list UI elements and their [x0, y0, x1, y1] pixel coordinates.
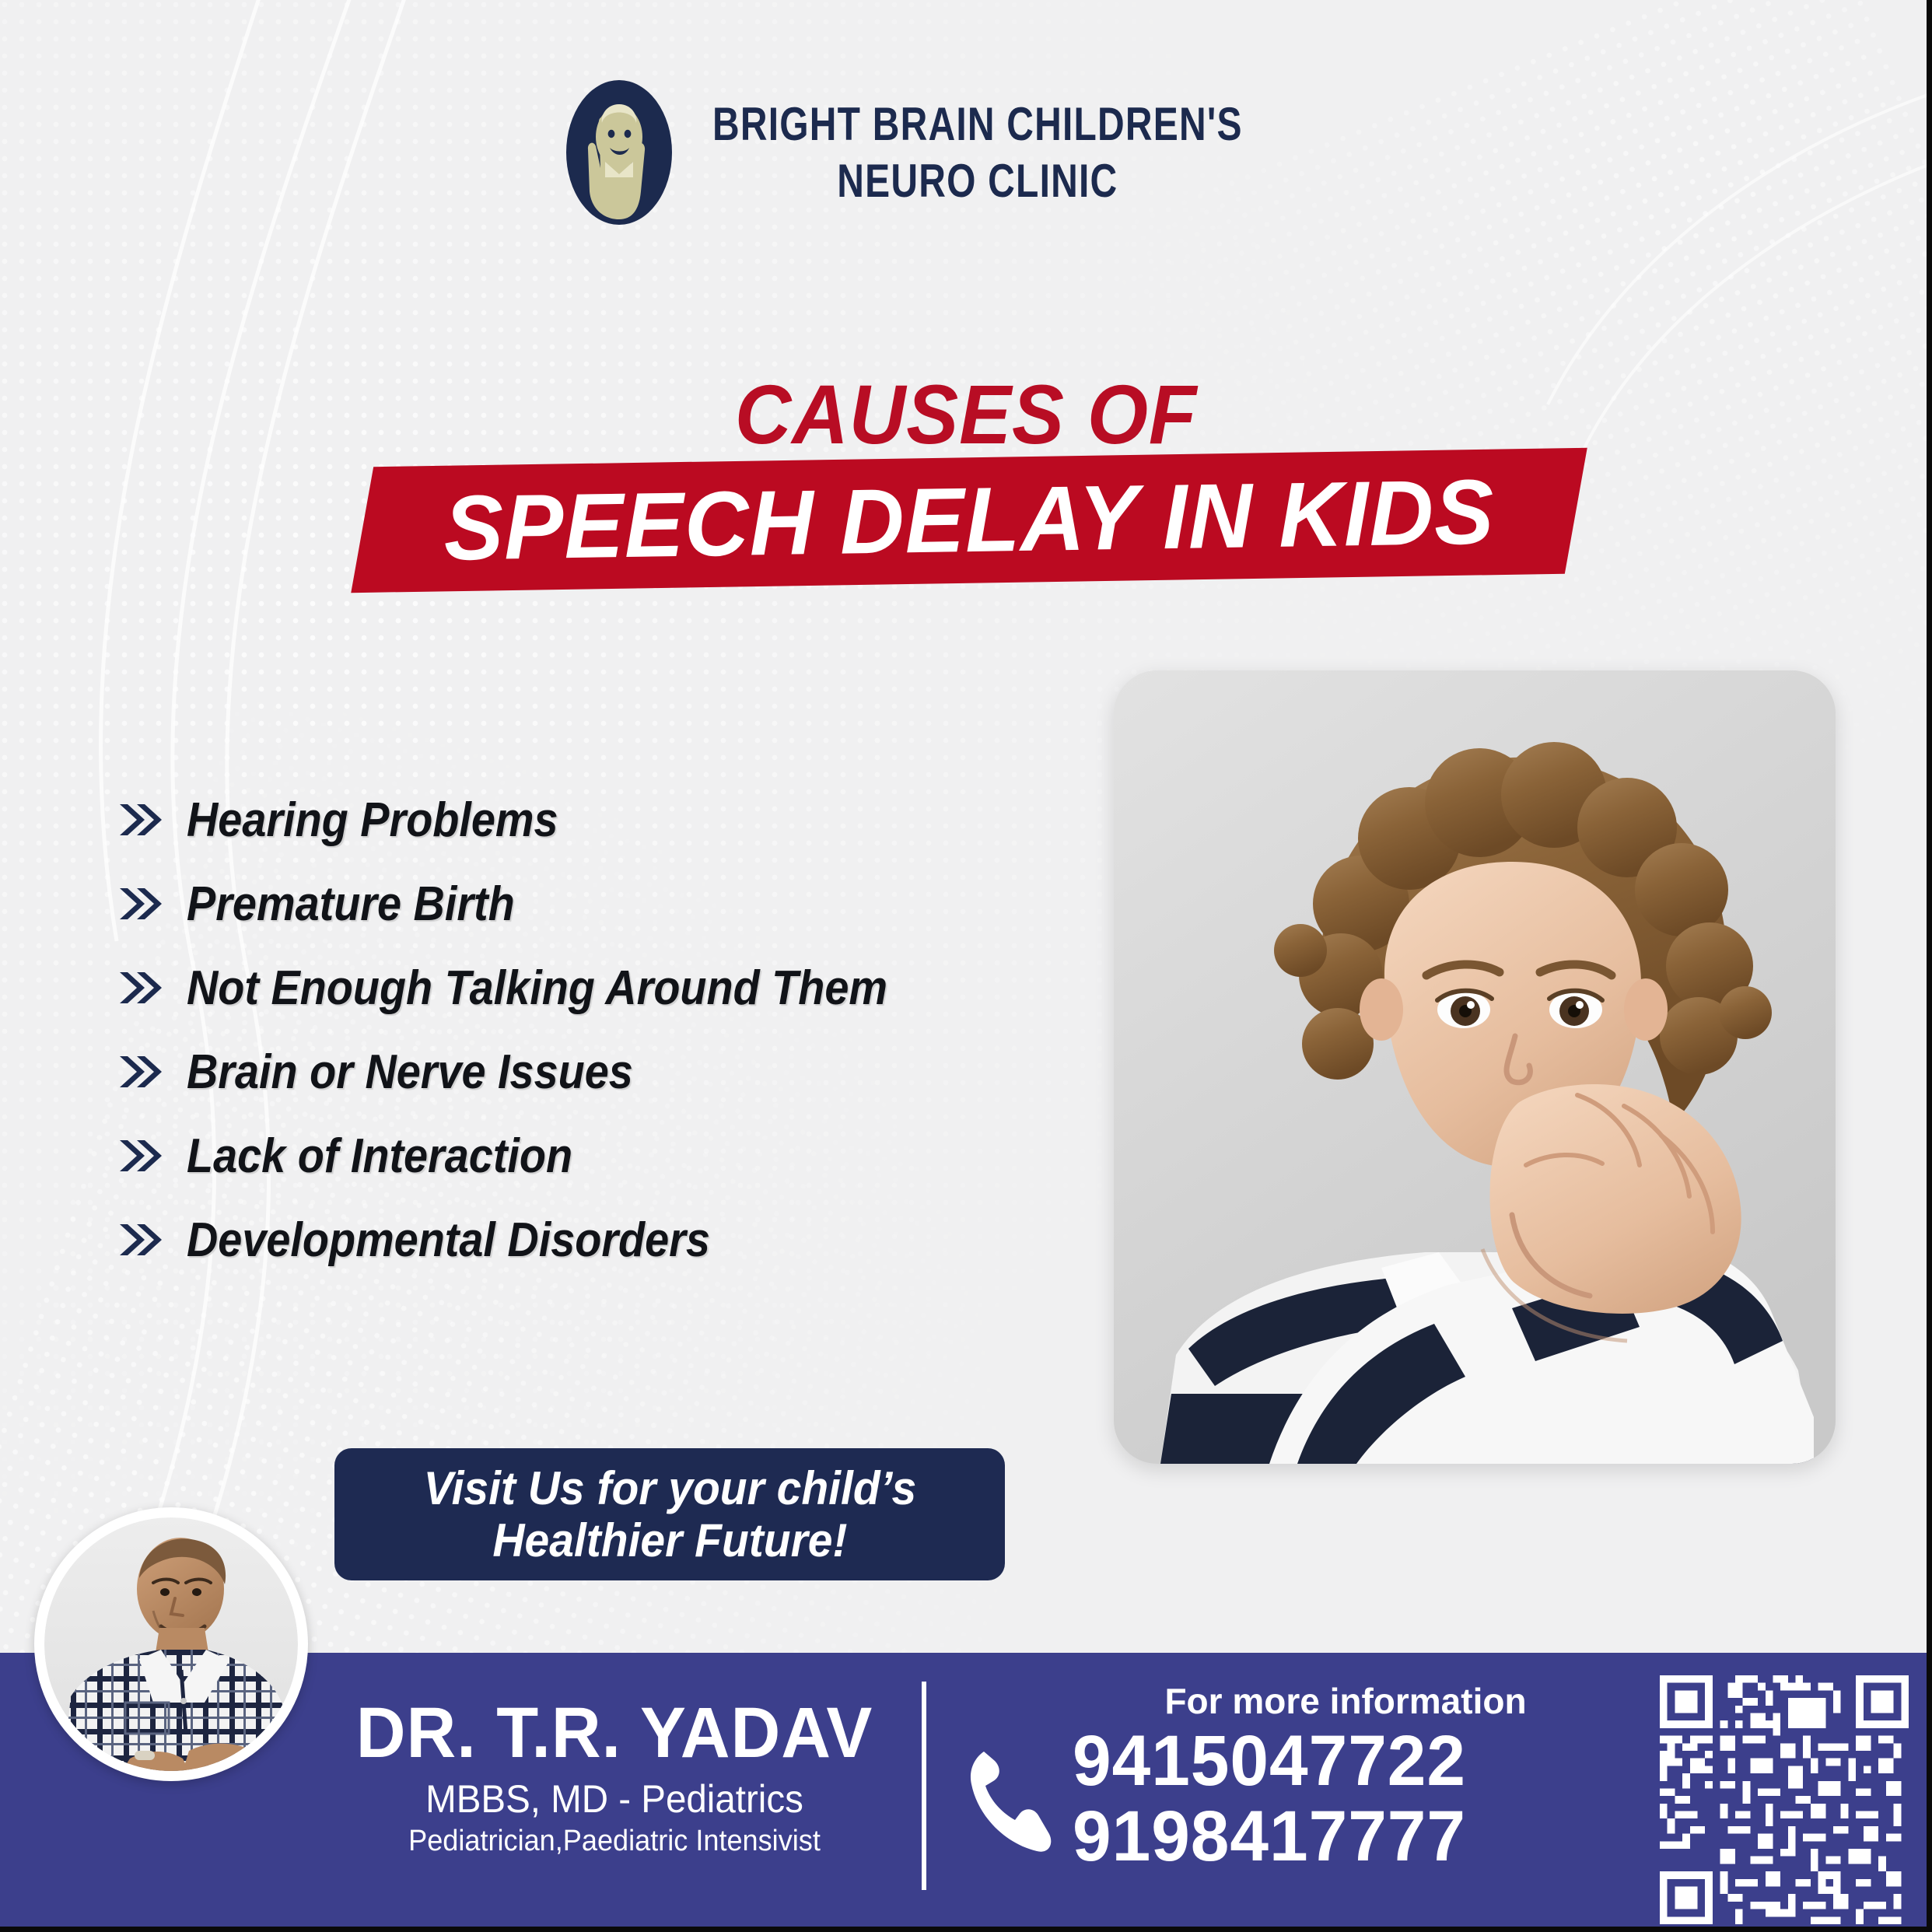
list-item: Premature Birth [117, 862, 1050, 946]
child-photo [1114, 670, 1836, 1464]
cause-label: Developmental Disorders [187, 1213, 710, 1268]
list-item: Lack of Interaction [117, 1114, 1050, 1198]
cause-label: Not Enough Talking Around Them [187, 961, 887, 1016]
visit-us-cta[interactable]: Visit Us for your child’s Healthier Futu… [334, 1448, 1005, 1580]
phone-handset-icon [961, 1741, 1054, 1857]
phone-primary[interactable]: 9415047722 [1073, 1724, 1466, 1799]
cta-text: Visit Us for your child’s Healthier Futu… [423, 1462, 915, 1566]
title-eyebrow: CAUSES OF [68, 366, 1864, 463]
doctor-degree: MBBS, MD - Pediatrics [341, 1776, 888, 1822]
cause-label: Hearing Problems [187, 793, 558, 848]
list-item: Hearing Problems [117, 778, 1050, 862]
cta-line-1: Visit Us for your child’s [423, 1462, 915, 1514]
title-banner-text: SPEECH DELAY IN KIDS [381, 448, 1557, 593]
double-chevron-icon [117, 1050, 163, 1094]
causes-list: Hearing Problems Premature Birth Not Eno… [117, 778, 1050, 1282]
clinic-header: BRIGHT BRAIN CHILDREN'S NEURO CLINIC [0, 75, 1932, 230]
double-chevron-icon [117, 798, 163, 842]
poster-bottom-border [0, 1927, 1932, 1932]
doctor-name: DR. T.R. YADAV [338, 1697, 891, 1770]
child-with-hands-logo [557, 75, 681, 230]
phone-row: 9415047722 9198417777 [961, 1724, 1645, 1874]
phone-numbers[interactable]: 9415047722 9198417777 [1073, 1724, 1466, 1874]
list-item: Not Enough Talking Around Them [117, 946, 1050, 1030]
clinic-name: BRIGHT BRAIN CHILDREN'S NEURO CLINIC [712, 96, 1243, 209]
poster-right-border [1927, 0, 1932, 1932]
double-chevron-icon [117, 1218, 163, 1262]
avatar [34, 1507, 308, 1781]
contact-caption: For more information [1046, 1680, 1645, 1722]
footer-divider [922, 1682, 926, 1890]
list-item: Developmental Disorders [117, 1198, 1050, 1282]
double-chevron-icon [117, 966, 163, 1010]
doctor-info: DR. T.R. YADAV MBBS, MD - Pediatrics Ped… [327, 1697, 902, 1858]
cause-label: Premature Birth [187, 877, 515, 932]
cause-label: Lack of Interaction [187, 1129, 572, 1184]
double-chevron-icon [117, 1134, 163, 1178]
contact-info: For more information 9415047722 91984177… [961, 1680, 1645, 1874]
phone-secondary[interactable]: 9198417777 [1073, 1799, 1466, 1874]
list-item: Brain or Nerve Issues [117, 1030, 1050, 1114]
doctor-specialty: Pediatrician,Paediatric Intensivist [341, 1825, 888, 1858]
cause-label: Brain or Nerve Issues [187, 1045, 633, 1100]
clinic-name-line2: NEURO CLINIC [712, 152, 1243, 209]
double-chevron-icon [117, 882, 163, 926]
clinic-name-line1: BRIGHT BRAIN CHILDREN'S [712, 98, 1243, 150]
cta-line-2: Healthier Future! [423, 1514, 915, 1566]
qr-code[interactable] [1660, 1675, 1909, 1924]
